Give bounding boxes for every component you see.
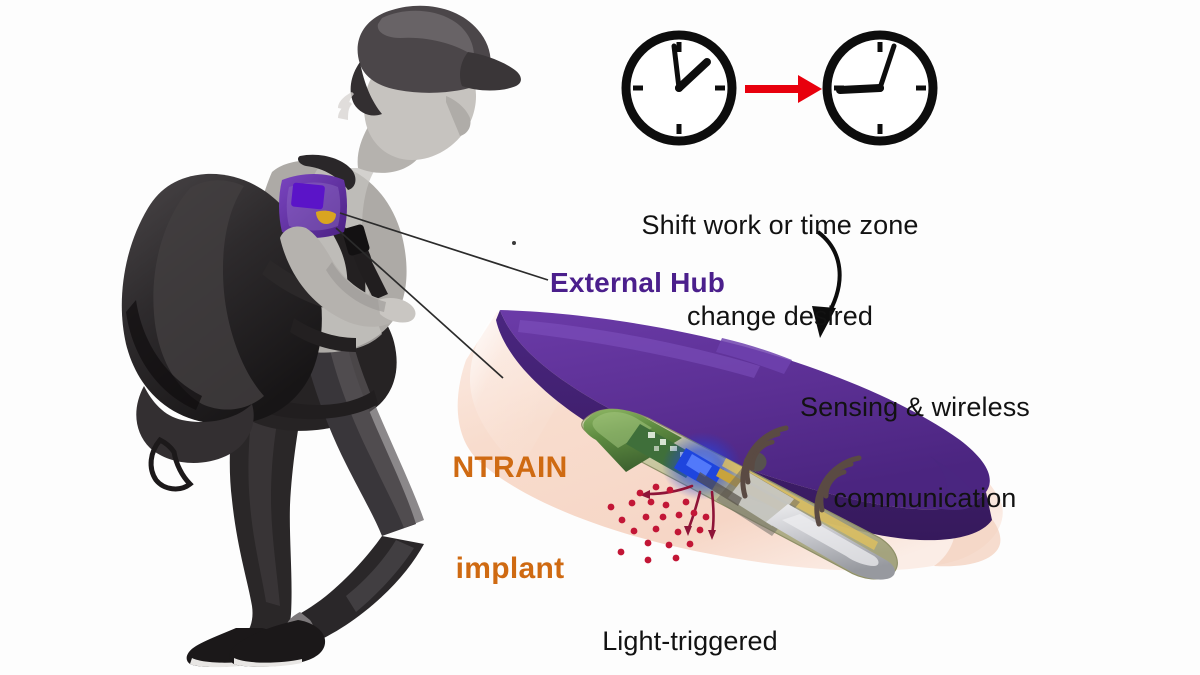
- label-external-hub: External Hub: [550, 267, 725, 298]
- figure-canvas: Shift work or time zone change desired S…: [0, 0, 1200, 675]
- label-ntrain-line1: NTRAIN: [430, 451, 590, 485]
- caption-sensing-line2: communication: [800, 483, 1050, 513]
- caption-shift-work-line2: change desired: [610, 301, 950, 331]
- hiker-cap-brim: [460, 52, 521, 91]
- caption-sensing-wireless: Sensing & wireless communication: [800, 332, 1050, 574]
- caption-shift-work-line1: Shift work or time zone: [610, 210, 950, 240]
- hiker-hair-strands: [338, 92, 354, 120]
- clock-after: [827, 35, 933, 141]
- clock-after-hour-hand: [840, 88, 880, 90]
- hiker-front-boot: [229, 620, 325, 667]
- clock-before-pivot: [675, 84, 683, 92]
- caption-sensing-line1: Sensing & wireless: [800, 392, 1050, 422]
- armband-screen: [291, 182, 325, 209]
- label-ntrain-line2: implant: [430, 552, 590, 586]
- stray-dot: [512, 241, 516, 245]
- red-transition-arrow: [745, 75, 822, 103]
- clock-before: [626, 35, 732, 141]
- label-ntrain-implant: NTRAIN implant: [430, 384, 590, 653]
- clock-after-pivot: [876, 84, 884, 92]
